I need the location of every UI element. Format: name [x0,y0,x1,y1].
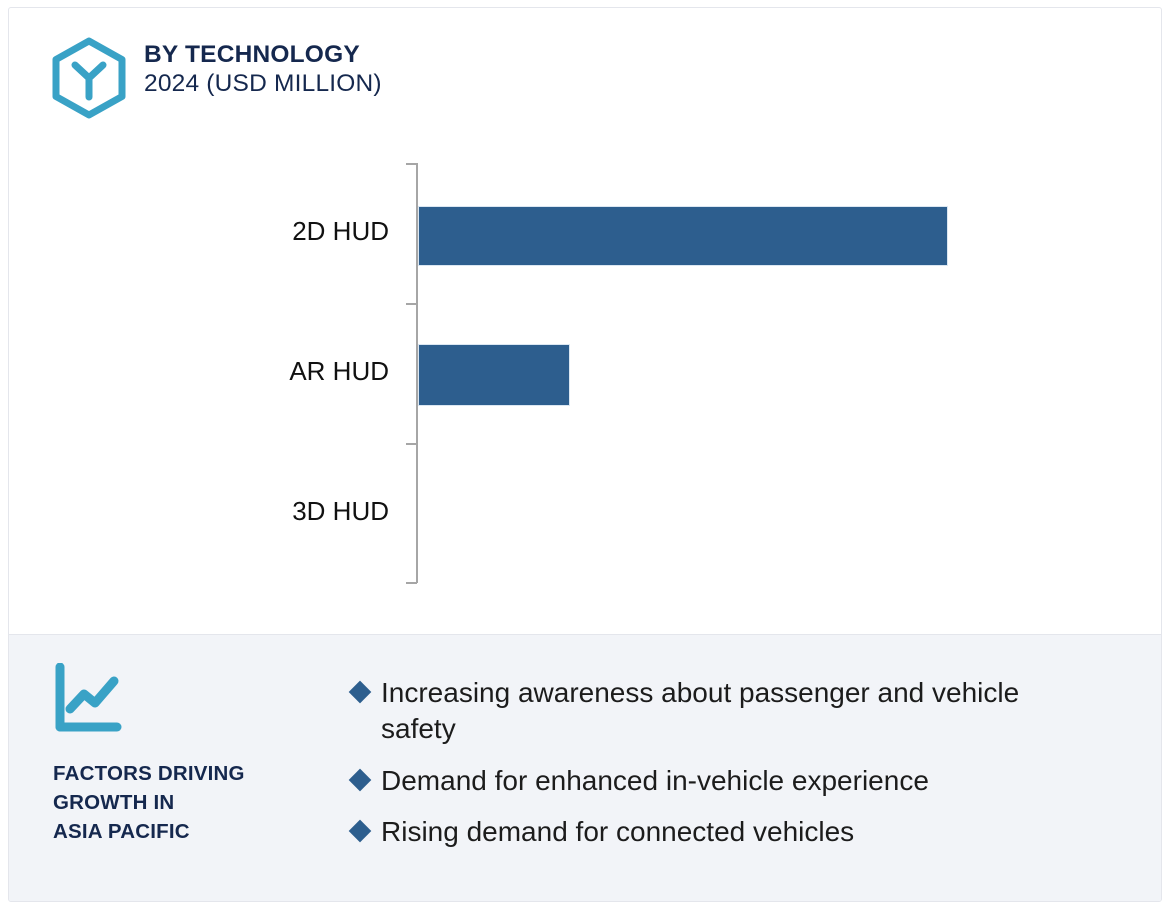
growth-factors-panel: FACTORS DRIVING GROWTH IN ASIA PACIFIC I… [9,634,1161,901]
list-item: Rising demand for connected vehicles [352,814,1101,850]
list-item: Demand for enhanced in-vehicle experienc… [352,763,1101,799]
bar-category-label: 2D HUD [109,218,389,244]
diamond-bullet-icon [349,768,372,791]
chart-header: BY TECHNOLOGY 2024 (USD MILLION) [9,8,1161,138]
growth-factors-title: FACTORS DRIVING GROWTH IN ASIA PACIFIC [53,759,339,846]
diamond-bullet-icon [349,820,372,843]
growth-factors-list: Increasing awareness about passenger and… [339,635,1161,901]
bar-row: 3D HUD [9,443,1161,583]
infographic-card: BY TECHNOLOGY 2024 (USD MILLION) 2D HUD [8,7,1162,902]
list-item: Increasing awareness about passenger and… [352,675,1101,747]
hexagon-y-logo-icon [50,37,128,119]
bar-category-label: AR HUD [109,358,389,384]
chart-plot-area: 2D HUD AR HUD 3D HUD [9,138,1161,628]
list-item-text: Rising demand for connected vehicles [381,814,854,850]
header-text-block: BY TECHNOLOGY 2024 (USD MILLION) [144,41,382,97]
bar-category-label: 3D HUD [109,498,389,524]
list-item-text: Demand for enhanced in-vehicle experienc… [381,763,929,799]
growth-factors-title-line-3: ASIA PACIFIC [53,817,339,846]
diamond-bullet-icon [349,681,372,704]
bar-2d-hud [418,206,948,266]
bar-row: AR HUD [9,303,1161,443]
bar-ar-hud [418,344,570,406]
growth-factors-heading-block: FACTORS DRIVING GROWTH IN ASIA PACIFIC [9,635,339,901]
bar-chart: 2D HUD AR HUD 3D HUD [9,138,1161,628]
growth-factors-title-line-1: FACTORS DRIVING [53,759,339,788]
bar-row: 2D HUD [9,163,1161,303]
page-title: BY TECHNOLOGY [144,41,382,69]
infographic-root: BY TECHNOLOGY 2024 (USD MILLION) 2D HUD [0,0,1170,909]
list-item-text: Increasing awareness about passenger and… [381,675,1081,747]
page-subtitle: 2024 (USD MILLION) [144,70,382,98]
growth-factors-title-line-2: GROWTH IN [53,788,339,817]
line-chart-icon [53,663,127,737]
